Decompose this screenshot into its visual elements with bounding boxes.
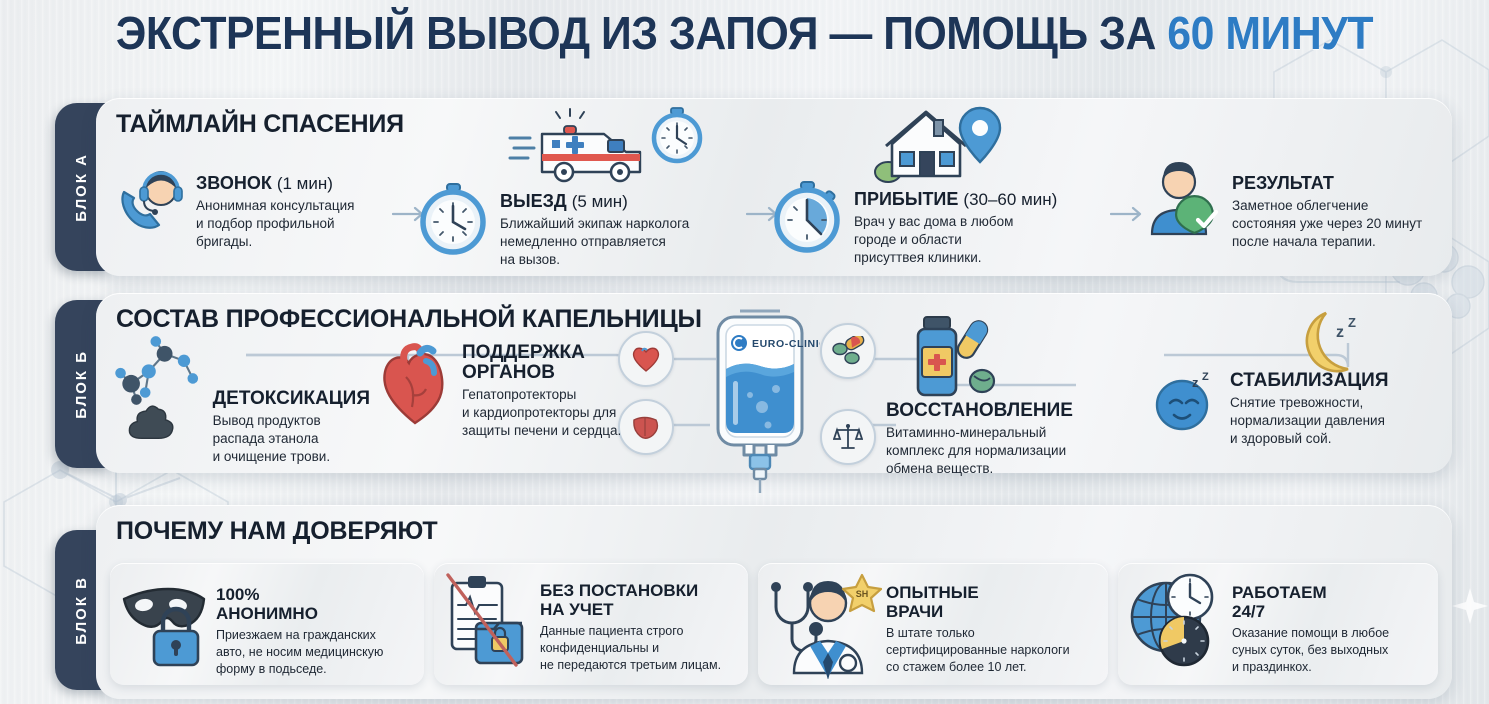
clipboard-nofile-icon [442, 571, 534, 671]
heart-icon [376, 341, 454, 427]
timeline-step-departure-body: Ближайший экипаж нарколога немедленно от… [500, 215, 689, 269]
block-b-item-organs-head: ПОДДЕРЖКА ОРГАНОВ [462, 343, 621, 383]
timeline-step-arrival: ПРИБЫТИЕ (30–60 мин) Врач у вас дома в л… [768, 102, 1108, 267]
vitamin-bottle-icon [908, 313, 1004, 403]
timeline-step-departure: ВЫЕЗД (5 мин) Ближайший экипаж нарколога… [414, 102, 744, 269]
trust-card-anonymous-head: 100% АНОНИМНО [216, 585, 383, 623]
svg-text:z: z [1192, 375, 1199, 390]
page-title: ЭКСТРЕННЫЙ ВЫВОД ИЗ ЗАПОЯ — ПОМОЩЬ ЗА 60… [52, 6, 1437, 60]
sleeping-face-icon: z Z [1152, 369, 1222, 433]
block-b-item-stabilization-head: СТАБИЛИЗАЦИЯ [1230, 371, 1389, 391]
trust-card-no-registration: БЕЗ ПОСТАНОВКИ НА УЧЕТ Данные пациента с… [434, 563, 748, 685]
trust-card-doctors-head: ОПЫТНЫЕ ВРАЧИ [886, 583, 1070, 621]
trust-card-doctors-body: В штате только сертифицированные нарколо… [886, 625, 1070, 676]
block-b-item-recovery-head: ВОССТАНОВЛЕНИЕ [886, 401, 1186, 421]
block-c-title: ПОЧЕМУ НАМ ДОВЕРЯЮТ [116, 517, 438, 546]
block-b-item-stabilization: z Z СТАБИЛИЗАЦИЯ Снятие тревожности, нор… [1152, 369, 1442, 448]
globe-clock-icon [1126, 571, 1226, 671]
trust-card-247: РАБОТАЕМ 24/7 Оказание помощи в любое су… [1118, 563, 1438, 685]
timeline-step-departure-head: ВЫЕЗД (5 мин) [500, 192, 689, 212]
iv-bag-brand-label: EURO-CLINIC [752, 338, 820, 350]
timeline-arrow-3 [1110, 206, 1146, 222]
trust-card-no-registration-body: Данные пациента строго конфиденциальны и… [540, 623, 721, 674]
trust-card-247-head: РАБОТАЕМ 24/7 [1232, 583, 1389, 621]
block-b-item-organs-body: Гепатопротекторы и кардиопротекторы для … [462, 386, 621, 440]
scales-badge [820, 409, 876, 465]
timeline-step-call-body: Анонимная консультация и подбор профильн… [196, 197, 354, 251]
phone-headset-icon [110, 160, 188, 238]
timeline-step-result-body: Заметное облегчение состояняя уже через … [1232, 197, 1422, 251]
timeline-step-call: ЗВОНОК (1 мин) Анонимная консультация и … [110, 160, 410, 251]
timeline-step-call-head: ЗВОНОК (1 мин) [196, 174, 354, 194]
trust-card-247-body: Оказание помощи в любое суных суток, без… [1232, 625, 1389, 676]
block-b-item-recovery-body: Витаминно-минеральный комплекс для норма… [886, 424, 1186, 478]
block-b-item-recovery: ВОССТАНОВЛЕНИЕ Витаминно-минеральный ком… [886, 313, 1186, 478]
svg-text:Z: Z [1348, 315, 1356, 330]
block-b-tab-label: БЛОК Б [73, 350, 90, 419]
stopwatch-icon-3 [768, 178, 846, 256]
molecule-icon [110, 327, 209, 451]
svg-text:z: z [1336, 324, 1344, 341]
ambulance-clock-icon [508, 102, 708, 188]
doctor-star-label: SH [856, 589, 869, 599]
trust-card-no-registration-head: БЕЗ ПОСТАНОВКИ НА УЧЕТ [540, 581, 721, 619]
pills-badge-icon [831, 336, 865, 366]
stopwatch-icon-2 [414, 180, 492, 258]
trust-card-anonymous-body: Приезжаем на гражданских авто, не носим … [216, 627, 383, 678]
timeline-step-result-head: РЕЗУЛЬТАТ [1232, 174, 1422, 194]
house-pin-icon [874, 102, 1004, 184]
svg-text:Z: Z [1202, 371, 1209, 383]
pills-badge [820, 323, 876, 379]
timeline-step-result: РЕЗУЛЬТАТ Заметное облегчение состояняя … [1142, 156, 1442, 251]
block-b-panel: СОСТАВ ПРОФЕССИОНАЛЬНОЙ КАПЕЛЬНИЦЫ [96, 293, 1452, 473]
block-a-title: ТАЙМЛАЙН СПАСЕНИЯ [116, 110, 404, 139]
block-b-item-organs: ПОДДЕРЖКА ОРГАНОВ Гепатопротекторы и кар… [376, 341, 656, 440]
trust-card-anonymous: 100% АНОНИМНО Приезжаем на гражданских а… [110, 563, 424, 685]
timeline-step-arrival-head: ПРИБЫТИЕ (30–60 мин) [854, 190, 1057, 210]
block-a-panel: ТАЙМЛАЙН СПАСЕНИЯ [96, 98, 1452, 276]
scales-badge-icon [833, 422, 863, 452]
block-c-panel: ПОЧЕМУ НАМ ДОВЕРЯЮТ 100% АНОНИМНО Приезж… [96, 505, 1452, 699]
block-b-item-detox-head: ДЕТОКСИКАЦИЯ [213, 389, 370, 409]
patient-shield-check-icon [1142, 156, 1224, 242]
iv-bag-icon: EURO-CLINIC [700, 307, 820, 497]
timeline-step-arrival-body: Врач у вас дома в любом городе и области… [854, 213, 1057, 267]
block-b-item-detox-body: Вывод продуктов распада этанола и очищен… [213, 412, 370, 466]
mask-lock-icon [118, 573, 210, 669]
infographic-canvas: ЭКСТРЕННЫЙ ВЫВОД ИЗ ЗАПОЯ — ПОМОЩЬ ЗА 60… [0, 0, 1489, 704]
page-title-accent: 60 МИНУТ [1167, 7, 1373, 59]
block-c-tab-label: БЛОК В [73, 576, 90, 645]
block-b-item-stabilization-body: Снятие тревожности, нормализации давлени… [1230, 394, 1389, 448]
trust-card-doctors: SH ОПЫТНЫЕ ВРАЧИ В штате только сертифиц… [758, 563, 1108, 685]
page-title-main: ЭКСТРЕННЫЙ ВЫВОД ИЗ ЗАПОЯ — ПОМОЩЬ ЗА [116, 7, 1167, 59]
block-b-item-detox: ДЕТОКСИКАЦИЯ Вывод продуктов распада эта… [110, 327, 370, 466]
doctor-star-icon: SH [764, 569, 882, 679]
block-a-tab-label: БЛОК А [73, 153, 90, 222]
